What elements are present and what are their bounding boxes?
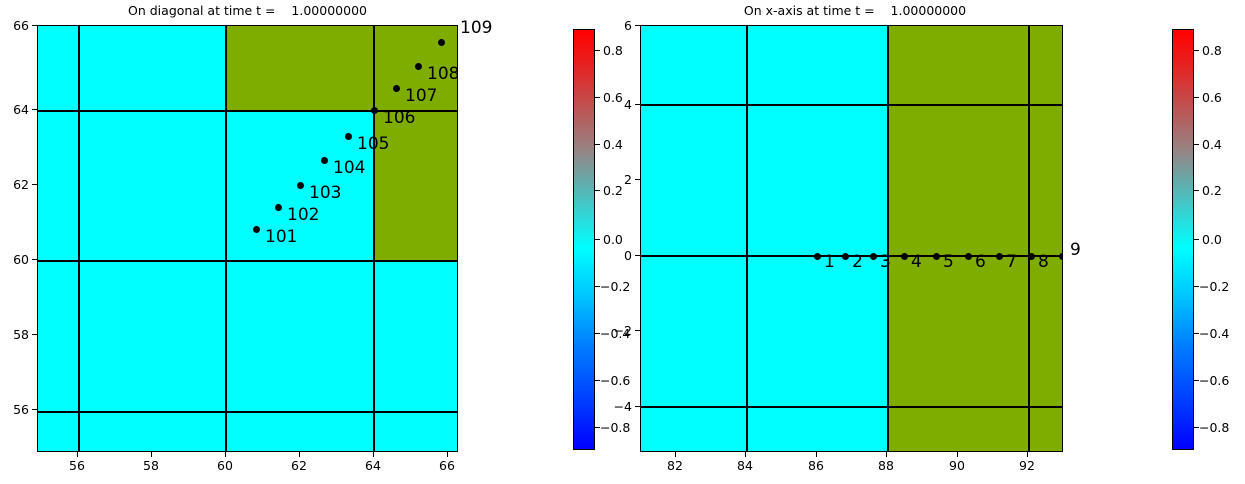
right-xtick-86 (816, 452, 817, 457)
right-xtick-84 (745, 452, 746, 457)
right-ytick-m2 (635, 330, 640, 331)
right-xtick-90 (957, 452, 958, 457)
right-data-point-6 (965, 253, 972, 260)
right-ytick-0 (635, 255, 640, 256)
right-data-point-1 (814, 253, 821, 260)
right-xticklabel-88: 88 (866, 459, 906, 472)
right-xticklabel-86: 86 (796, 459, 836, 472)
right-data-point-3 (870, 253, 877, 260)
right-data-point-9 (1059, 253, 1064, 260)
right-field-cell-low (641, 26, 888, 452)
right-data-label-5: 5 (943, 254, 954, 271)
right-gridline-x-84 (746, 26, 748, 451)
right-data-label-9: 9 (1070, 242, 1081, 259)
right-yticklabel-4: 4 (606, 98, 632, 111)
right-data-point-4 (901, 253, 908, 260)
right-data-label-7: 7 (1006, 254, 1017, 271)
right-yticklabel-6: 6 (606, 19, 632, 32)
right-ytick-m4 (635, 406, 640, 407)
right-xticklabel-84: 84 (725, 459, 765, 472)
right-xtick-88 (886, 452, 887, 457)
right-gridline-y-m4 (641, 406, 1062, 408)
right-yticklabel-m2: −2 (603, 324, 632, 337)
right-xtick-92 (1027, 452, 1028, 457)
right-field-cell-high (888, 26, 1063, 452)
right-yticklabel-0: 0 (606, 249, 632, 262)
right-data-label-2: 2 (852, 254, 863, 271)
right-ytick-4 (635, 104, 640, 105)
right-data-label-6: 6 (975, 254, 986, 271)
right-panel: On x-axis at time t = 1.00000000 1 2 (0, 0, 1245, 484)
right-data-label-4: 4 (911, 254, 922, 271)
right-ytick-6 (635, 25, 640, 26)
right-data-label-3: 3 (880, 254, 891, 271)
right-ytick-2 (635, 179, 640, 180)
right-xticklabel-82: 82 (655, 459, 695, 472)
right-yticklabel-2: 2 (606, 173, 632, 186)
right-gridline-x-88 (887, 26, 889, 451)
right-data-point-5 (933, 253, 940, 260)
right-data-point-8 (1028, 253, 1035, 260)
right-data-point-7 (996, 253, 1003, 260)
matplotlib-figure: On diagonal at time t = 1.00000000 (0, 0, 1245, 484)
right-yticklabel-m4: −4 (603, 400, 632, 413)
right-panel-title: On x-axis at time t = 1.00000000 (640, 4, 1070, 18)
right-xtick-82 (675, 452, 676, 457)
right-data-label-1: 1 (824, 254, 835, 271)
right-plot-area: 1 2 3 4 5 6 7 8 (640, 25, 1063, 452)
right-xticklabel-90: 90 (937, 459, 977, 472)
right-data-label-8: 8 (1038, 254, 1049, 271)
right-xticklabel-92: 92 (1007, 459, 1047, 472)
right-gridline-y-4 (641, 104, 1062, 106)
right-data-point-2 (842, 253, 849, 260)
right-gridline-x-92 (1028, 26, 1030, 451)
